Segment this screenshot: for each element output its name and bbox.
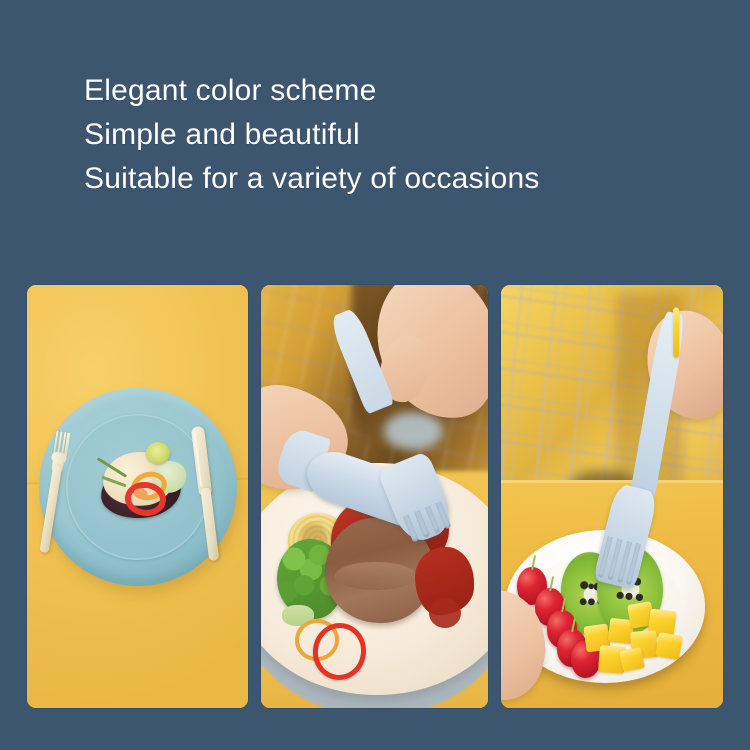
product-photo-panel-1: [27, 285, 248, 708]
red-sauce-drip: [429, 598, 461, 628]
scene-cutting-steak: [261, 285, 488, 708]
scene-blue-plate-topdown: [27, 285, 248, 708]
mango-cube-8: [619, 647, 645, 672]
headline-line-1: Elegant color scheme: [84, 69, 704, 113]
mango-cube-7: [655, 632, 683, 660]
mango-cube-on-fork: [674, 308, 680, 358]
headline-line-2: Simple and beautiful: [84, 113, 704, 157]
headline-line-3: Suitable for a variety of occasions: [84, 157, 704, 201]
product-photo-panel-2: [261, 285, 488, 708]
page-title: Elegant color scheme Simple and beautifu…: [84, 69, 704, 201]
product-banner: Elegant color scheme Simple and beautifu…: [0, 0, 750, 750]
scene-fruit-plate: [501, 285, 723, 708]
product-photo-panel-3: [501, 285, 723, 708]
lime-slice: [146, 442, 170, 464]
